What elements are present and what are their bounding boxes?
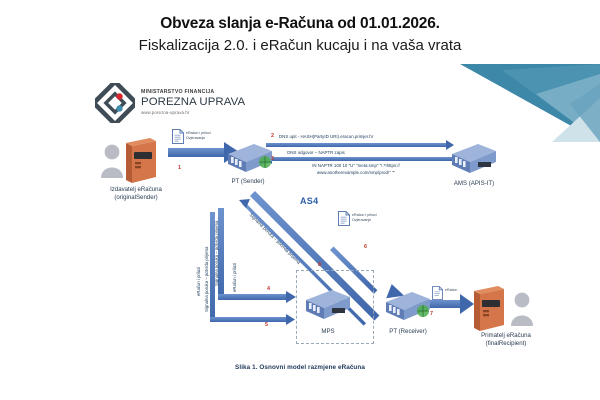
doc-chip-1: eRačun i prilozi Ovjeravanje (172, 129, 211, 144)
figure-caption: Slika 1. Osnovni model razmjene eRačuna (0, 364, 600, 371)
node-mps: MPS (302, 284, 354, 328)
node-label-original-sender: Izdavatelj eRačuna (originalSender) (110, 186, 162, 202)
step-number-2: 2 (271, 133, 274, 139)
rotated-label-3: Signalna poruka – potvrda prijema (214, 221, 219, 286)
node-final-recipient: Primatelj eRačuna (finalRecipient) (472, 282, 550, 334)
server-tower-icon (126, 138, 156, 183)
doc-chip-2: eRačun i prilozi Ovjeravanje (338, 211, 377, 226)
dns-reply-line-2: www.anotherexample.com/smp/prod!" "" (317, 170, 395, 176)
node-label-pt-receiver: PT (Receiver) (389, 328, 426, 336)
node-label-final-recipient: Primatelj eRačuna (finalRecipient) (481, 332, 531, 348)
server-tower-icon (474, 286, 504, 331)
step-number-1: 1 (178, 165, 181, 171)
step-number-3: 3 (271, 156, 274, 162)
step-number-8: 8 (318, 262, 321, 268)
step-number-7: 7 (430, 311, 433, 317)
dns-reply-line-1: IN NAPTR 100 10 "U" "meta:smp" "!.*!http… (312, 163, 400, 169)
step-number-5: 5 (265, 322, 268, 328)
user-avatar-icon (101, 145, 123, 178)
doc-chip-4-caption: eRačun (445, 286, 457, 293)
node-pt-receiver: PT (Receiver) (382, 284, 434, 328)
step-number-6: 6 (364, 244, 367, 250)
dns-query-text: DNS upit - HASH(PartyID URI).eracun.prim… (279, 134, 373, 140)
document-icon (338, 211, 350, 226)
as4-label: AS4 (300, 196, 318, 206)
document-icon (172, 129, 184, 144)
doc-chip-2-caption: eRačun i prilozi Ovjeravanje (352, 211, 377, 222)
node-label-pt-sender: PT (Sender) (231, 178, 264, 186)
node-pt-sender: PT (Sender) (224, 136, 276, 180)
arrow-step-2 (266, 140, 454, 150)
rotated-label-2: Signalna poruka – potvrda prijema (204, 247, 209, 312)
network-device-icon (386, 292, 430, 320)
rotated-label-1: eRačun i prilozi (196, 267, 201, 296)
dns-reply-title: DNS odgovor – NAPTR zapis (287, 150, 345, 156)
node-ams: AMS (APIS-IT) (448, 138, 500, 182)
document-icon (432, 286, 443, 300)
doc-chip-1-caption: eRačun i prilozi Ovjeravanje (186, 129, 211, 140)
slide-canvas: Obveza slanja e-Računa od 01.01.2026. Fi… (0, 0, 600, 400)
network-device-icon (228, 144, 272, 172)
server-rack-icon (306, 290, 350, 319)
node-original-sender: Izdavatelj eRačuna (originalSender) (96, 136, 174, 188)
node-label-mps: MPS (321, 328, 334, 336)
node-label-ams: AMS (APIS-IT) (454, 180, 494, 188)
user-avatar-icon (511, 293, 533, 326)
rotated-label-4: eRačun i prilozi (232, 263, 237, 292)
doc-chip-4: eRačun (432, 286, 457, 300)
server-rack-icon (452, 144, 496, 173)
step-number-4: 4 (267, 286, 270, 292)
